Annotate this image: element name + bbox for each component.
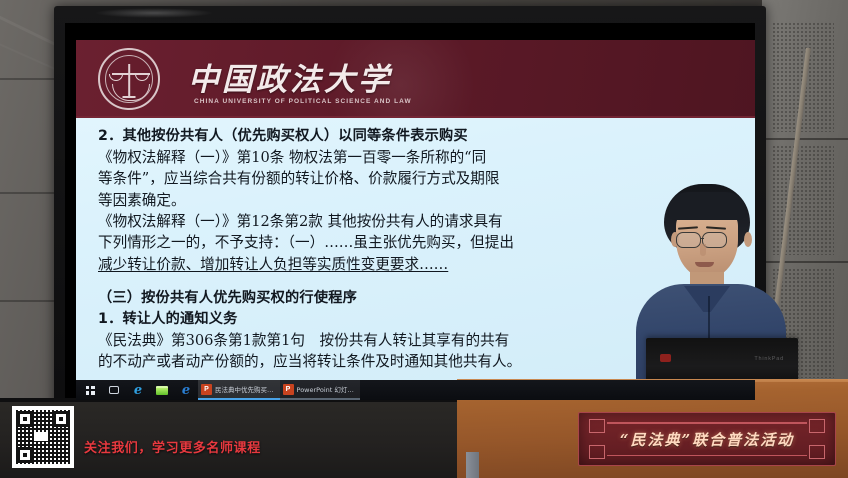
university-name-cn: 中国政法大学 — [188, 54, 392, 99]
nose — [700, 244, 706, 256]
wall-seam — [0, 78, 56, 80]
eyeglasses-lens — [676, 232, 701, 248]
banner-corner-ornament — [589, 419, 605, 433]
banner-rule — [607, 422, 807, 424]
banner-corner-ornament — [589, 445, 605, 459]
laptop-brand-label: ThinkPad — [754, 356, 784, 362]
slide-header-band: 中国政法大学 CHINA UNIVERSITY OF POLITICAL SCI… — [76, 40, 755, 118]
laptop-logo-icon — [660, 354, 671, 362]
podium-leg — [466, 452, 479, 478]
eyeglasses-bridge — [700, 238, 704, 239]
edge-browser-icon[interactable]: e — [174, 380, 198, 400]
qr-finder-pattern — [53, 411, 69, 427]
wall-seam — [0, 300, 56, 302]
taskbar-task-powerpoint-2[interactable]: P PowerPoint 幻灯… — [280, 380, 360, 400]
slide-line: 《物权法解释（一）》第10条 物权法第一百零一条所称的“同 — [98, 147, 750, 168]
qr-code[interactable] — [12, 406, 74, 468]
university-name-en: CHINA UNIVERSITY OF POLITICAL SCIENCE AN… — [194, 98, 412, 105]
taskbar-task-label: 民法典中优先购买… — [215, 384, 274, 394]
mouth — [695, 262, 714, 267]
ear — [744, 232, 752, 247]
promo-text: 关注我们，学习更多名师课程 — [84, 437, 261, 456]
slide-line: 2．其他按份共有人（优先购买权人）以同等条件表示购买 — [98, 126, 750, 147]
taskbar-task-powerpoint-1[interactable]: P 民法典中优先购买… — [198, 380, 280, 400]
powerpoint-icon: P — [201, 384, 212, 395]
wall-seam — [0, 192, 56, 194]
internet-explorer-icon[interactable]: e — [126, 380, 150, 400]
panel-seam — [762, 138, 848, 140]
hair-fringe — [668, 192, 746, 220]
qr-finder-pattern — [17, 411, 33, 427]
task-view-button[interactable] — [102, 380, 126, 400]
banner-corner-ornament — [809, 445, 825, 459]
file-explorer-icon[interactable] — [150, 380, 174, 400]
qr-finder-pattern — [17, 447, 33, 463]
screen-glare — [94, 8, 214, 18]
banner-text: “民法典”联合普法活动 — [620, 429, 794, 450]
windows-taskbar[interactable]: e e P 民法典中优先购买… P PowerPoint 幻灯… — [76, 380, 755, 400]
powerpoint-icon: P — [283, 384, 294, 395]
start-button[interactable] — [78, 380, 102, 400]
qr-center-logo — [34, 432, 48, 441]
banner-rule — [607, 455, 807, 457]
event-banner: “民法典”联合普法活动 — [578, 412, 836, 466]
banner-corner-ornament — [809, 419, 825, 433]
taskbar-task-label: PowerPoint 幻灯… — [297, 384, 354, 394]
university-emblem-icon — [98, 48, 160, 110]
